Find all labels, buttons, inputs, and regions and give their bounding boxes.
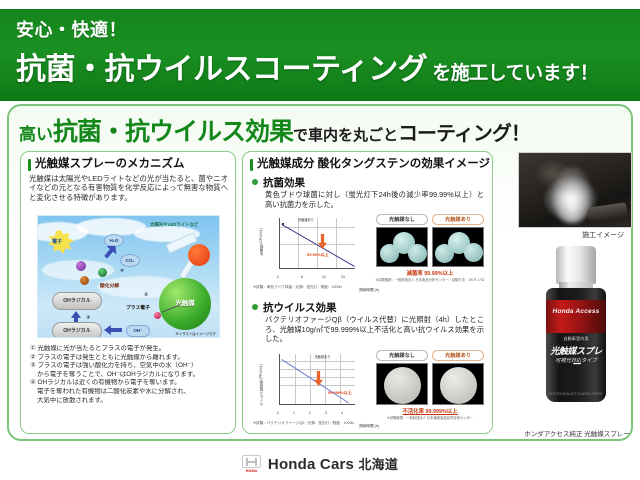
x-tick: 24 (341, 275, 345, 279)
note-item: ③ プラスの電子は強い酸化力を持ち、空気中の水（OH⁻） (30, 362, 228, 371)
colony-dish (464, 243, 483, 262)
diagram-number-4: ④ (120, 268, 124, 274)
colony-dish (384, 367, 421, 404)
subtitle-mid: で車内を丸ごと (293, 127, 398, 144)
antiviral-result: 不活化率 99.999%以上 (376, 407, 484, 415)
gridline (280, 369, 355, 370)
antiviral-chart-note: ※試験：バクテリオファージQβ／光源：蛍光灯／照度：1000lx (253, 421, 354, 426)
antiviral-heading: 抗ウイルス効果 (252, 300, 337, 315)
x-tick: 6 (301, 275, 303, 279)
plus-electron-label: プラス電子 (126, 304, 150, 311)
header-title-main: 抗菌・抗ウイルスコーティング (16, 53, 427, 86)
light-source-label: 太陽光やLEDライトなど (150, 222, 198, 228)
electron-dot (154, 312, 161, 319)
photo-label-off: 光触媒なし (376, 214, 428, 225)
arrow-left-icon (104, 325, 122, 335)
x-tick: 0 (277, 411, 279, 415)
chart-ylabel: 生菌数 (CFU/mL) (258, 228, 263, 256)
mechanism-body: 光触媒は太陽光やLEDライトなどの光が当たると、菌やニオイなどの元となる有害物質… (29, 174, 228, 202)
petri-photo-on (432, 227, 484, 267)
product-bottle: Honda Access 自動車室内用 光触媒スプレー 可視光対応タイプ PHO… (530, 246, 622, 424)
mechanism-notes: ① 光触媒に光が当たるとプラスの電子が発生。 ② プラスの電子は発生とともに光触… (30, 345, 228, 405)
chart-point (282, 223, 284, 225)
chart-xlabel: 照射時間 (h) (359, 288, 379, 293)
header-title-tail: を施工しています！ (427, 63, 598, 84)
antibacterial-chart-note: ※試験：黄色ブドウ球菌／光源：蛍光灯／照度：1000lx (253, 285, 342, 290)
mechanism-title: 光触媒スプレーのメカニズム (28, 158, 230, 171)
honda-logo-bar (246, 461, 257, 463)
bottle-cap (556, 246, 596, 284)
gridline (280, 385, 355, 386)
chart-ylabel: ウイルス感染価 (PFU/mL) (258, 364, 263, 406)
x-tick: 3 (325, 411, 327, 415)
chart-series-line (282, 224, 355, 267)
gridline (280, 361, 355, 362)
chart-legend: 光触媒あり (298, 217, 314, 222)
note-item: から電子を奪うことで、OH⁻はOHラジカルになります。 (30, 371, 228, 380)
light-source-icon (188, 244, 210, 266)
x-tick: 2 (309, 411, 311, 415)
diagram-footnote: ※イラストはイメージです (176, 331, 216, 336)
colony-dish (440, 367, 477, 404)
mechanism-panel: 光触媒スプレーのメカニズム 光触媒は太陽光やLEDライトなどの光が当たると、菌や… (20, 151, 236, 434)
note-item: 大気中に放散されます。 (30, 397, 228, 406)
bottle-foot-text: PHOTOCATALYST COATING SPRAY (546, 392, 606, 396)
note-item: 電子を奪われた有機物は二酸化炭素や水に分解され、 (30, 388, 228, 397)
x-tick: 12 (322, 275, 326, 279)
spray-nozzle (586, 202, 628, 222)
bottle-sub: 自動車室内用 (546, 336, 606, 342)
chart-xlabel: 照射時間 (h) (359, 424, 379, 429)
antibacterial-footnote: ※試験機関：一般財団法人 日本食品分析センター／試験方法：JIS R 1702 (374, 278, 486, 282)
molecule-dot (98, 268, 107, 277)
subtitle-lead: 高い (19, 125, 53, 144)
page-footer: HONDA Honda Cars 北海道 (0, 446, 640, 480)
molecule-dot (80, 276, 89, 285)
footer-brand-name: Honda Cars (268, 456, 354, 473)
sun-label: 電子 (52, 238, 62, 245)
promo-page: 安心・快適！ 抗菌・抗ウイルスコーティングを施工しています！ 高い抗菌・抗ウイル… (0, 0, 640, 480)
subtitle-line: 高い抗菌・抗ウイルス効果で車内を丸ごとコーティング！ (19, 112, 625, 144)
subtitle-highlight: 抗菌・抗ウイルス効果 (53, 118, 293, 144)
honda-logo-text: HONDA (242, 469, 261, 473)
bottle-variant: 可視光対応タイプ (546, 357, 606, 364)
chart-plot: 99.99%以上 光触媒あり (279, 218, 355, 269)
radical-label-2: OHラジカル (52, 322, 102, 338)
x-tick: 4 (341, 411, 343, 415)
antiviral-chart: ウイルス感染価 (PFU/mL) 99.999%以上 光触媒あり 0 1 (259, 350, 369, 418)
photo-label-on: 光触媒あり (432, 214, 484, 225)
photo-label-off: 光触媒なし (376, 350, 428, 361)
antiviral-body: バクテリオファージQβ（ウイルス代替）に光照射（4h）したところ、光触媒10g/… (265, 315, 484, 344)
photo-label-on: 光触媒あり (432, 350, 484, 361)
header-eyebrow: 安心・快適！ (16, 19, 626, 41)
honda-logo-icon: HONDA (242, 455, 261, 472)
header-title: 抗菌・抗ウイルスコーティングを施工しています！ (16, 44, 626, 88)
application-photo-caption: 施工イメージ (518, 230, 632, 240)
note-item: ② プラスの電子は発生とともに光触媒から離れます。 (30, 354, 228, 363)
chart-plot: 99.999%以上 光触媒あり (279, 354, 355, 405)
antiviral-footnote: ※試験機関：一般財団法人 日本繊維製品品質技術センター (374, 416, 486, 420)
note-item: ① 光触媒に光が当たるとプラスの電子が発生。 (30, 345, 228, 354)
radical-label-1: OHラジカル (52, 292, 102, 310)
x-tick: 1 (293, 411, 295, 415)
photocatalyst-sphere: 光触媒 (159, 278, 211, 330)
molecule-dot (76, 261, 86, 271)
gridline (280, 227, 355, 228)
effect-title: 光触媒成分 酸化タングステンの効果イメージ (250, 158, 487, 171)
spray-mist (553, 167, 591, 223)
antibacterial-chart: 生菌数 (CFU/mL) 99.99%以上 光触媒あり 0 6 12 24 (259, 214, 369, 282)
antibacterial-body: 黄色ブドウ球菌に対し（蛍光灯下24h後の減少率99.99%以上）と高い抗菌力を示… (265, 190, 484, 209)
note-item: ④ OHラジカルは近くの有機物から電子を奪います。 (30, 379, 228, 388)
bottle-red-band (546, 300, 606, 333)
oxidation-label: 酸化分解 (100, 282, 119, 289)
molecule-h2o: H₂O (104, 234, 124, 247)
chart-legend: 光触媒あり (315, 354, 331, 359)
chart-annotation: 99.999%以上 (328, 390, 352, 396)
effect-panel: 光触媒成分 酸化タングステンの効果イメージ 抗菌効果 黄色ブドウ球菌に対し（蛍光… (242, 151, 493, 434)
diagram-number-3: ③ (86, 315, 90, 321)
virus-photo-on (432, 363, 484, 405)
antibacterial-heading: 抗菌効果 (252, 175, 305, 190)
chart-annotation: 99.99%以上 (307, 252, 329, 258)
molecule-co2: CO₂ (120, 254, 140, 267)
bottle-brand: Honda Access (546, 308, 606, 315)
mechanism-diagram: 電子 太陽光やLEDライトなど ① H₂O CO₂ ④ 酸化分解 OHラジカル … (37, 215, 220, 338)
gridline (336, 218, 337, 268)
subtitle-tail: コーティング！ (398, 123, 530, 144)
bottle-body: Honda Access 自動車室内用 光触媒スプレー 可視光対応タイプ PHO… (546, 288, 606, 402)
colony-dish (408, 244, 427, 263)
diagram-number-2: ② (144, 292, 148, 298)
gridline (298, 218, 299, 268)
footer-region: 北海道 (358, 457, 398, 472)
oh-ion-label: OH⁻ (126, 325, 150, 337)
gridline (317, 218, 318, 268)
footer-brand: Honda Cars 北海道 (268, 454, 398, 473)
page-header: 安心・快適！ 抗菌・抗ウイルスコーティングを施工しています！ (0, 9, 640, 101)
x-tick: 0 (277, 275, 279, 279)
petri-photo-off (376, 227, 428, 267)
bottle-caption: ホンダアクセス純正 光触媒スプレー (516, 428, 638, 438)
application-photo (518, 152, 632, 228)
antibacterial-result: 減菌率 99.99%以上 (376, 269, 484, 277)
virus-photo-off (376, 363, 428, 405)
